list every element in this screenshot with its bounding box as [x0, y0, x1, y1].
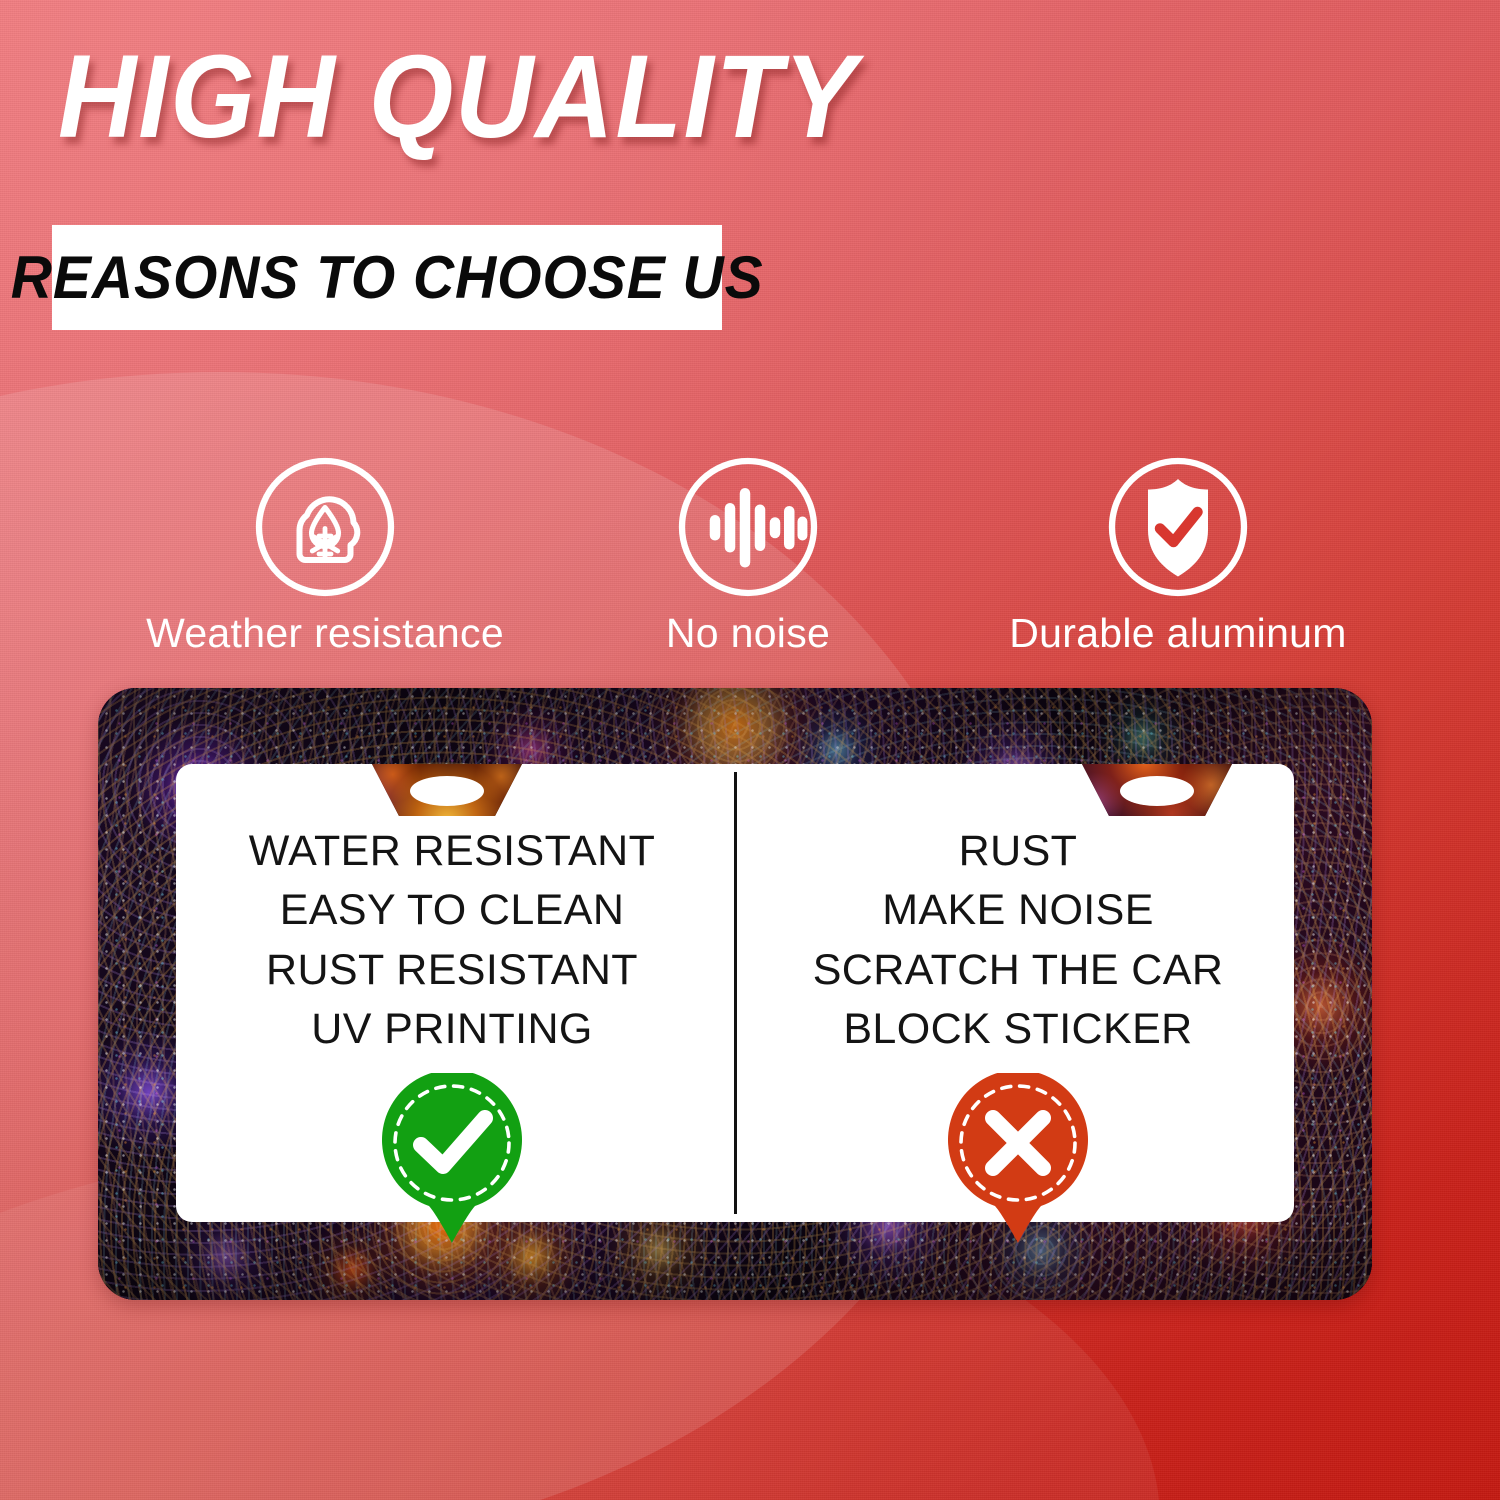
cons-line: RUST — [959, 822, 1078, 881]
page-title: HIGH QUALITY — [58, 34, 858, 161]
comparison-divider — [734, 772, 737, 1214]
pros-badge — [377, 1073, 527, 1245]
weather-cloud-droplet-snowflake-icon — [250, 452, 400, 602]
feature-no-noise: No noise — [598, 452, 898, 657]
feature-label: Durable aluminum — [1009, 610, 1347, 657]
sound-wave-icon — [673, 452, 823, 602]
license-plate-frame: WATER RESISTANT EASY TO CLEAN RUST RESIS… — [98, 688, 1372, 1300]
pros-column: WATER RESISTANT EASY TO CLEAN RUST RESIS… — [182, 822, 722, 1245]
mounting-hole — [1120, 776, 1194, 806]
mounting-hole — [410, 776, 484, 806]
feature-row: Weather resistance No noise — [0, 452, 1500, 667]
comparison-area: WATER RESISTANT EASY TO CLEAN RUST RESIS… — [176, 764, 1294, 1222]
pros-line: UV PRINTING — [311, 1000, 593, 1059]
cons-column: RUST MAKE NOISE SCRATCH THE CAR BLOCK ST… — [748, 822, 1288, 1245]
pros-line: EASY TO CLEAN — [280, 881, 625, 940]
feature-weather-resistance: Weather resistance — [145, 452, 505, 657]
cons-line: MAKE NOISE — [882, 881, 1154, 940]
pros-line: WATER RESISTANT — [249, 822, 656, 881]
mounting-tab-left — [372, 764, 522, 816]
pros-line: RUST RESISTANT — [266, 941, 638, 1000]
shield-check-icon — [1103, 452, 1253, 602]
feature-durable-aluminum: Durable aluminum — [988, 452, 1368, 657]
feature-label: Weather resistance — [146, 610, 504, 657]
red-cross-pin-icon — [943, 1073, 1093, 1245]
subtitle-text: REASONS TO CHOOSE US — [11, 243, 764, 312]
product-infographic: HIGH QUALITY REASONS TO CHOOSE US Weathe… — [0, 0, 1500, 1500]
cons-line: BLOCK STICKER — [843, 1000, 1192, 1059]
cons-line: SCRATCH THE CAR — [813, 941, 1224, 1000]
subtitle-banner: REASONS TO CHOOSE US — [52, 225, 722, 330]
cons-badge — [943, 1073, 1093, 1245]
feature-label: No noise — [666, 610, 830, 657]
green-check-pin-icon — [377, 1073, 527, 1245]
mounting-tab-right — [1082, 764, 1232, 816]
